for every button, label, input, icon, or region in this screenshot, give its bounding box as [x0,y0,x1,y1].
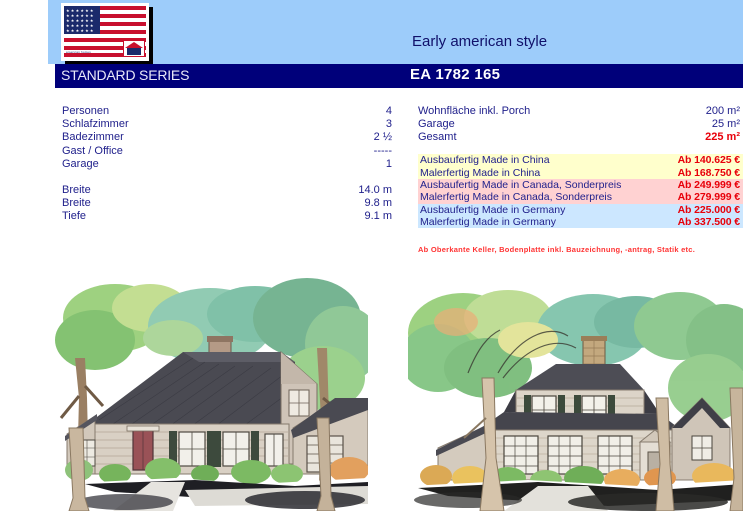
area-label: Garage [418,118,455,131]
flag-canton: ★★★★★★ ★★★★★★ ★★★★★★ ★★★★★★ ★★★★★★ [64,6,100,34]
price-row: Ausbaufertig Made in Canada, Sonderpreis… [418,179,743,191]
price-table: Ausbaufertig Made in China Ab 140.625 € … [418,154,743,228]
spec-value: 2 ½ [374,131,392,144]
house-logo-icon [123,40,145,57]
price-row: Malerfertig Made in Canada, Sonderpreis … [418,191,743,203]
area-row: Garage 25 m² [418,118,740,131]
area-table: Wohnfläche inkl. Porch 200 m² Garage 25 … [418,105,740,145]
price-row: Malerfertig Made in Germany Ab 337.500 € [418,216,743,228]
spec-label: Personen [62,105,109,118]
dimension-row: Breite 14.0 m [62,184,392,197]
spec-value: ----- [374,145,392,158]
price-amount: Ab 225.000 € [678,204,740,216]
price-row: Ausbaufertig Made in China Ab 140.625 € [418,154,743,166]
dimension-row: Breite 9.8 m [62,197,392,210]
area-row: Wohnfläche inkl. Porch 200 m² [418,105,740,118]
price-label: Malerfertig Made in Germany [420,216,556,228]
spec-value: 3 [386,118,392,131]
spec-label: Schlafzimmer [62,118,129,131]
area-value: 225 m² [705,131,740,144]
price-label: Malerfertig Made in Canada, Sonderpreis [420,191,612,203]
spec-label: Garage [62,158,99,171]
series-bar: STANDARD SERIES EA 1782 165 [55,64,743,88]
price-row: Malerfertig Made in China Ab 168.750 € [418,166,743,178]
spec-row: Garage 1 [62,158,392,171]
dimension-value: 14.0 m [358,184,392,197]
dimension-row: Tiefe 9.1 m [62,210,392,223]
price-label: Ausbaufertig Made in Canada, Sonderpreis [420,179,621,191]
price-amount: Ab 140.625 € [678,154,740,166]
area-value: 25 m² [712,118,740,131]
logo-wordmark: american homes [66,50,91,54]
spec-row: Badezimmer 2 ½ [62,131,392,144]
area-value: 200 m² [706,105,740,118]
spec-label: Gast / Office [62,145,123,158]
spec-table: Personen 4 Schlafzimmer 3 Badezimmer 2 ½… [62,105,392,224]
house-rendering-gambrel [408,278,743,511]
price-label: Ausbaufertig Made in China [420,154,550,166]
house-illustration-front-svg [55,278,368,511]
area-label: Gesamt [418,131,457,144]
dimension-value: 9.1 m [364,210,392,223]
spec-value: 4 [386,105,392,118]
spec-row: Personen 4 [62,105,392,118]
spec-row: Gast / Office ----- [62,145,392,158]
dimension-value: 9.8 m [364,197,392,210]
spec-value: 1 [386,158,392,171]
company-logo: ★★★★★★ ★★★★★★ ★★★★★★ ★★★★★★ ★★★★★★ ameri… [61,3,153,65]
model-code: EA 1782 165 [410,66,500,83]
price-amount: Ab 249.999 € [678,179,740,191]
dimension-label: Breite [62,197,91,210]
area-label: Wohnfläche inkl. Porch [418,105,530,118]
price-amount: Ab 279.999 € [678,191,740,203]
price-footnote: Ab Oberkante Keller, Bodenplatte inkl. B… [418,245,695,254]
dimension-label: Breite [62,184,91,197]
spec-row: Schlafzimmer 3 [62,118,392,131]
spec-label: Badezimmer [62,131,124,144]
spec-spacer [62,171,392,184]
logo-frame: ★★★★★★ ★★★★★★ ★★★★★★ ★★★★★★ ★★★★★★ ameri… [61,3,149,61]
page-title: Early american style [412,33,547,50]
price-row: Ausbaufertig Made in Germany Ab 225.000 … [418,204,743,216]
house-rendering-front [55,278,368,511]
series-label: STANDARD SERIES [61,67,189,83]
area-total-row: Gesamt 225 m² [418,131,740,144]
price-amount: Ab 337.500 € [678,216,740,228]
price-label: Ausbaufertig Made in Germany [420,204,565,216]
usa-flag-icon: ★★★★★★ ★★★★★★ ★★★★★★ ★★★★★★ ★★★★★★ ameri… [64,6,146,58]
price-label: Malerfertig Made in China [420,167,540,179]
dimension-label: Tiefe [62,210,86,223]
house-illustration-gambrel-svg [408,278,743,511]
price-amount: Ab 168.750 € [678,167,740,179]
brochure-page: ★★★★★★ ★★★★★★ ★★★★★★ ★★★★★★ ★★★★★★ ameri… [0,0,743,511]
